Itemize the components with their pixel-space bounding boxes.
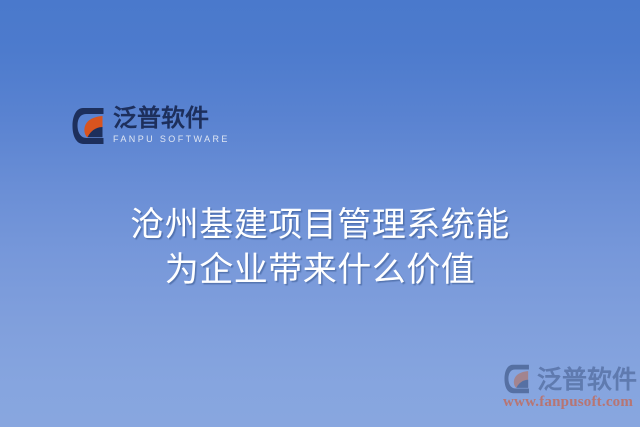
brand-logo: 泛普软件 FANPU SOFTWARE	[72, 105, 230, 145]
fanpu-logo-icon	[72, 105, 106, 145]
fanpu-logo-watermark-icon	[502, 364, 533, 394]
watermark-row: 泛普软件	[502, 364, 638, 394]
promo-banner: 泛普软件 FANPU SOFTWARE 沧州基建项目管理系统能 为企业带来什么价…	[0, 0, 640, 427]
headline-line-1: 沧州基建项目管理系统能	[0, 203, 640, 248]
brand-name-cn: 泛普软件	[113, 105, 230, 132]
headline-line-2: 为企业带来什么价值	[0, 248, 640, 293]
headline: 沧州基建项目管理系统能 为企业带来什么价值	[0, 203, 640, 293]
watermark-url: www.fanpusoft.com	[502, 394, 638, 411]
watermark: 泛普软件 www.fanpusoft.com	[502, 364, 638, 411]
watermark-name: 泛普软件	[537, 365, 637, 394]
brand-name-en: FANPU SOFTWARE	[113, 134, 230, 145]
brand-text: 泛普软件 FANPU SOFTWARE	[113, 105, 230, 145]
